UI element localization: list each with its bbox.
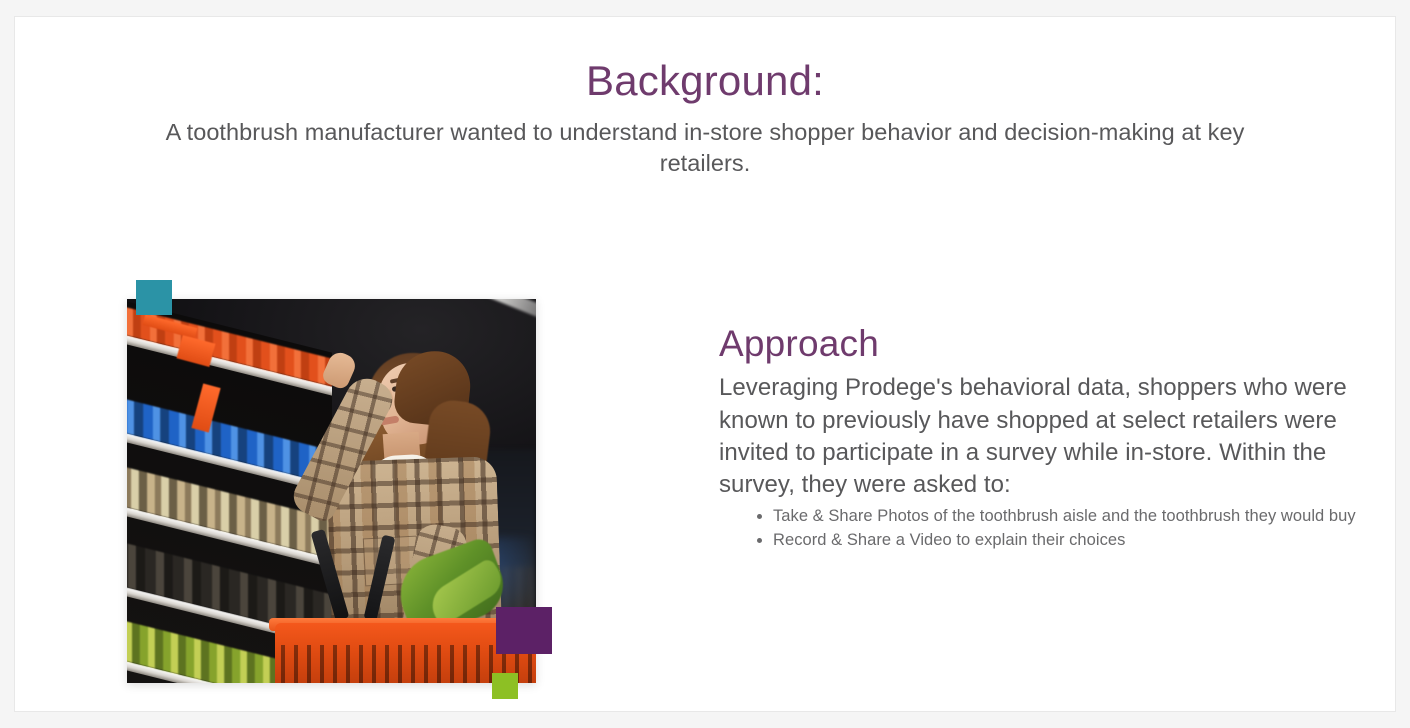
plum-accent-square [496, 607, 552, 654]
list-item: Take & Share Photos of the toothbrush ai… [773, 505, 1359, 529]
teal-accent-square [136, 280, 172, 315]
slide-card: Background: A toothbrush manufacturer wa… [14, 16, 1396, 712]
slide-header: Background: A toothbrush manufacturer wa… [15, 17, 1395, 180]
approach-heading: Approach [719, 323, 1359, 364]
approach-bullet-list: Take & Share Photos of the toothbrush ai… [719, 505, 1359, 553]
shopper-photo [127, 299, 536, 683]
photo-composition [113, 264, 538, 701]
list-item: Record & Share a Video to explain their … [773, 529, 1359, 553]
approach-section: Approach Leveraging Prodege's behavioral… [719, 323, 1359, 553]
page-title: Background: [15, 17, 1395, 103]
photo-scene [127, 299, 536, 683]
approach-body-text: Leveraging Prodege's behavioral data, sh… [719, 372, 1359, 501]
lime-accent-square [492, 673, 518, 699]
slide-subtitle: A toothbrush manufacturer wanted to unde… [145, 117, 1265, 180]
